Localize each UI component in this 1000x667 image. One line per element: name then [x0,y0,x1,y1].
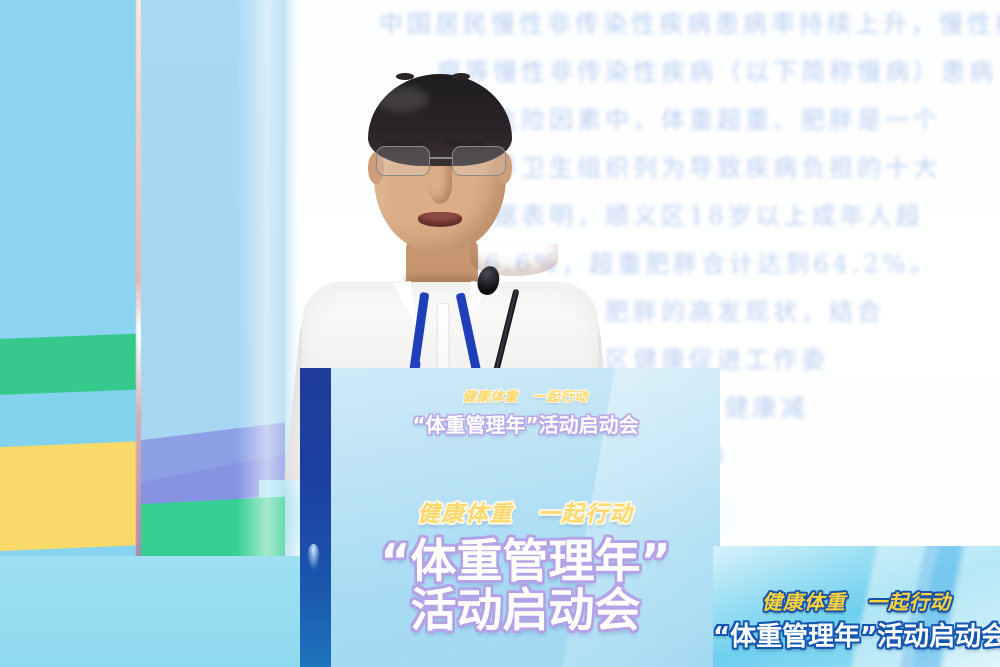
podium-main-slogan: 健康体重 一起行动 [331,496,720,528]
backdrop-green-band [0,333,138,399]
glasses-bridge [430,157,452,159]
podium-top-slogan: 健康体重 一起行动 [331,386,720,405]
podium-front-panel: 健康体重 一起行动 “体重管理年”活动启动会 健康体重 一起行动 “体重管理年”… [331,368,720,667]
podium-top-text-block: 健康体重 一起行动 “体重管理年”活动启动会 [331,386,720,438]
podium-main-title-line2: 活动启动会 [331,587,720,634]
glasses-lens-left [376,146,430,176]
speaker-eye-right [452,73,470,80]
screenshot-root: 中国居民慢性非传染性疾病患病率持续上升，慢性病 瘤等慢性非传染性疾病（以下简称慢… [0,0,1000,667]
podium-side-panel [300,368,331,667]
glasses-lens-right [452,146,506,176]
podium-main-title-line1: “体重管理年” [331,538,720,585]
backdrop-yellow-band [0,440,138,557]
banner-title: “体重管理年”活动启动会 [713,616,1000,653]
speaker-nose [428,166,452,204]
slide-line: 中国居民慢性非传染性疾病患病率持续上升，慢性病 [379,0,1000,48]
stage-floor-strip [0,556,300,667]
podium-top-title: “体重管理年”活动启动会 [331,409,720,438]
speaker-mouth [418,212,462,227]
bottom-right-banner: 健康体重 一起行动 “体重管理年”活动启动会 [713,546,1000,667]
podium-gloss-reflection [307,544,320,570]
banner-slogan: 健康体重 一起行动 [713,586,1000,615]
speaker-eye-left [396,73,414,80]
podium: 健康体重 一起行动 “体重管理年”活动启动会 健康体重 一起行动 “体重管理年”… [300,368,720,667]
podium-main-text-block: 健康体重 一起行动 “体重管理年” 活动启动会 [331,496,720,634]
